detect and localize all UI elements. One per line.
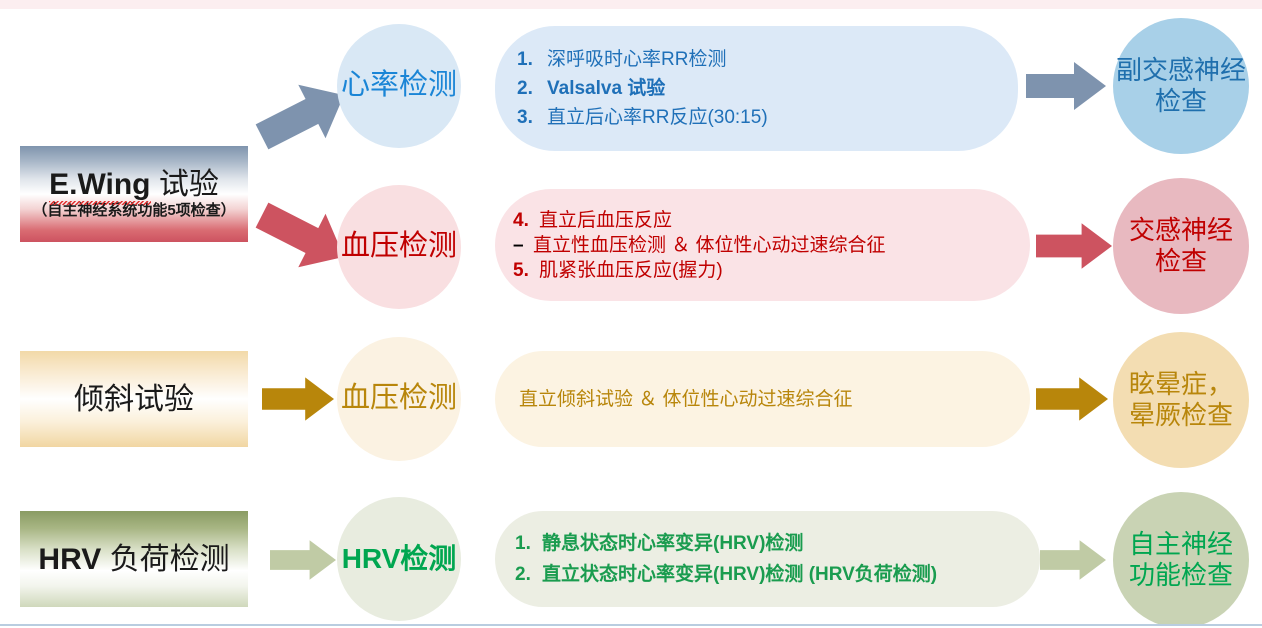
stage-circle-blood-pressure-tilt-label: 血压检测: [341, 382, 457, 415]
source-box-ewing-title: E.Wing 试验: [49, 168, 219, 201]
result-circle-parasympathetic-label: 副交感神经检查: [1116, 55, 1246, 117]
result-circle-sympathetic-label: 交感神经检查: [1129, 215, 1233, 277]
list-item: 2. Valsalva 试验: [517, 74, 1018, 103]
ewing-cjk: 试验: [159, 168, 219, 201]
hrv-cjk: 负荷检测: [110, 543, 230, 576]
list-item-number: 2.: [515, 565, 542, 584]
result-circle-syncope-label: 眩晕症，晕厥检查: [1129, 369, 1233, 431]
content-pill-hrv: 1. 静息状态时心率变异(HRV)检测 2. 直立状态时心率变异(HRV)检测 …: [495, 511, 1040, 607]
result-circle-sympathetic[interactable]: 交感神经检查: [1113, 178, 1249, 314]
arrow-right-hr-to-parasympathetic: [1026, 62, 1106, 110]
stage-circle-heart-rate[interactable]: 心率检测: [337, 24, 461, 148]
source-box-ewing-subtitle: （自主神经系统功能5项检查）: [32, 203, 235, 220]
source-box-ewing[interactable]: E.Wing 试验 （自主神经系统功能5项检查）: [20, 146, 248, 242]
stage-circle-heart-rate-label: 心率检测: [341, 69, 457, 102]
list-item-text: 静息状态时心率变异(HRV)检测: [542, 534, 803, 553]
source-box-hrv[interactable]: HRV 负荷检测: [20, 511, 248, 607]
list-item-text: 深呼吸时心率RR检测: [547, 50, 726, 69]
list-item-dash: –: [513, 236, 533, 255]
list-item-text: 直立性血压检测 ＆ 体位性心动过速综合征: [533, 236, 886, 255]
list-item: 5. 肌紧张血压反应(握力): [513, 258, 1030, 283]
list-item: 2. 直立状态时心率变异(HRV)检测 (HRV负荷检测): [515, 559, 1040, 590]
arrow-right-tilt-to-bp: [262, 376, 334, 422]
arrow-right-hrv-to-hrv-test: [270, 538, 336, 582]
result-circle-syncope[interactable]: 眩晕症，晕厥检查: [1113, 332, 1249, 468]
list-item: 3. 直立后心率RR反应(30:15): [517, 103, 1018, 132]
arrow-right-bp-to-sympathetic: [1036, 222, 1112, 270]
list-item: 直立倾斜试验 ＆ 体位性心动过速综合征: [519, 385, 1030, 414]
list-item-text: 直立后心率RR反应(30:15): [547, 108, 768, 127]
list-item-number: 1.: [517, 50, 547, 69]
result-circle-autonomic-function-label: 自主神经功能检查: [1129, 529, 1233, 591]
ewing-latin: E.Wing: [49, 168, 150, 201]
hrv-latin: HRV: [38, 543, 101, 576]
list-item-number: 3.: [517, 108, 547, 127]
source-box-hrv-title: HRV 负荷检测: [38, 543, 229, 576]
stage-circle-blood-pressure-ewing[interactable]: 血压检测: [337, 185, 461, 309]
list-item: 1. 静息状态时心率变异(HRV)检测: [515, 528, 1040, 559]
list-item-number: 2.: [517, 79, 547, 98]
stage-circle-blood-pressure-label: 血压检测: [341, 230, 457, 263]
list-item-text: 直立后血压反应: [539, 211, 672, 230]
list-item: 1. 深呼吸时心率RR检测: [517, 45, 1018, 74]
arrow-right-hrv-to-autonomic: [1040, 538, 1106, 582]
stage-circle-blood-pressure-tilt[interactable]: 血压检测: [337, 337, 461, 461]
list-item-text: 肌紧张血压反应(握力): [539, 261, 723, 280]
list-item-text: 直立状态时心率变异(HRV)检测 (HRV负荷检测): [542, 565, 937, 584]
bottom-divider: [0, 624, 1262, 628]
content-pill-tilt: 直立倾斜试验 ＆ 体位性心动过速综合征: [495, 351, 1030, 447]
list-item: 4. 直立后血压反应: [513, 208, 1030, 233]
content-pill-blood-pressure: 4. 直立后血压反应 – 直立性血压检测 ＆ 体位性心动过速综合征 5. 肌紧张…: [495, 189, 1030, 301]
list-item: – 直立性血压检测 ＆ 体位性心动过速综合征: [513, 233, 1030, 258]
content-pill-heart-rate: 1. 深呼吸时心率RR检测 2. Valsalva 试验 3. 直立后心率RR反…: [495, 26, 1018, 151]
result-circle-autonomic-function[interactable]: 自主神经功能检查: [1113, 492, 1249, 628]
list-item-number: 1.: [515, 534, 542, 553]
list-item-number: 5.: [513, 261, 539, 280]
list-item-text: Valsalva 试验: [547, 79, 665, 98]
diagram-canvas: E.Wing 试验 （自主神经系统功能5项检查） 心率检测 1. 深呼吸时心率R…: [0, 0, 1262, 628]
top-accent-band: [0, 0, 1262, 9]
source-box-tilt-test-title: 倾斜试验: [74, 383, 194, 416]
source-box-tilt-test[interactable]: 倾斜试验: [20, 351, 248, 447]
list-item-text: 直立倾斜试验 ＆ 体位性心动过速综合征: [519, 390, 853, 409]
list-item-number: 4.: [513, 211, 539, 230]
stage-circle-hrv[interactable]: HRV检测: [337, 497, 461, 621]
result-circle-parasympathetic[interactable]: 副交感神经检查: [1113, 18, 1249, 154]
arrow-right-tilt-to-syncope: [1036, 376, 1108, 422]
stage-circle-hrv-label: HRV检测: [342, 543, 457, 575]
